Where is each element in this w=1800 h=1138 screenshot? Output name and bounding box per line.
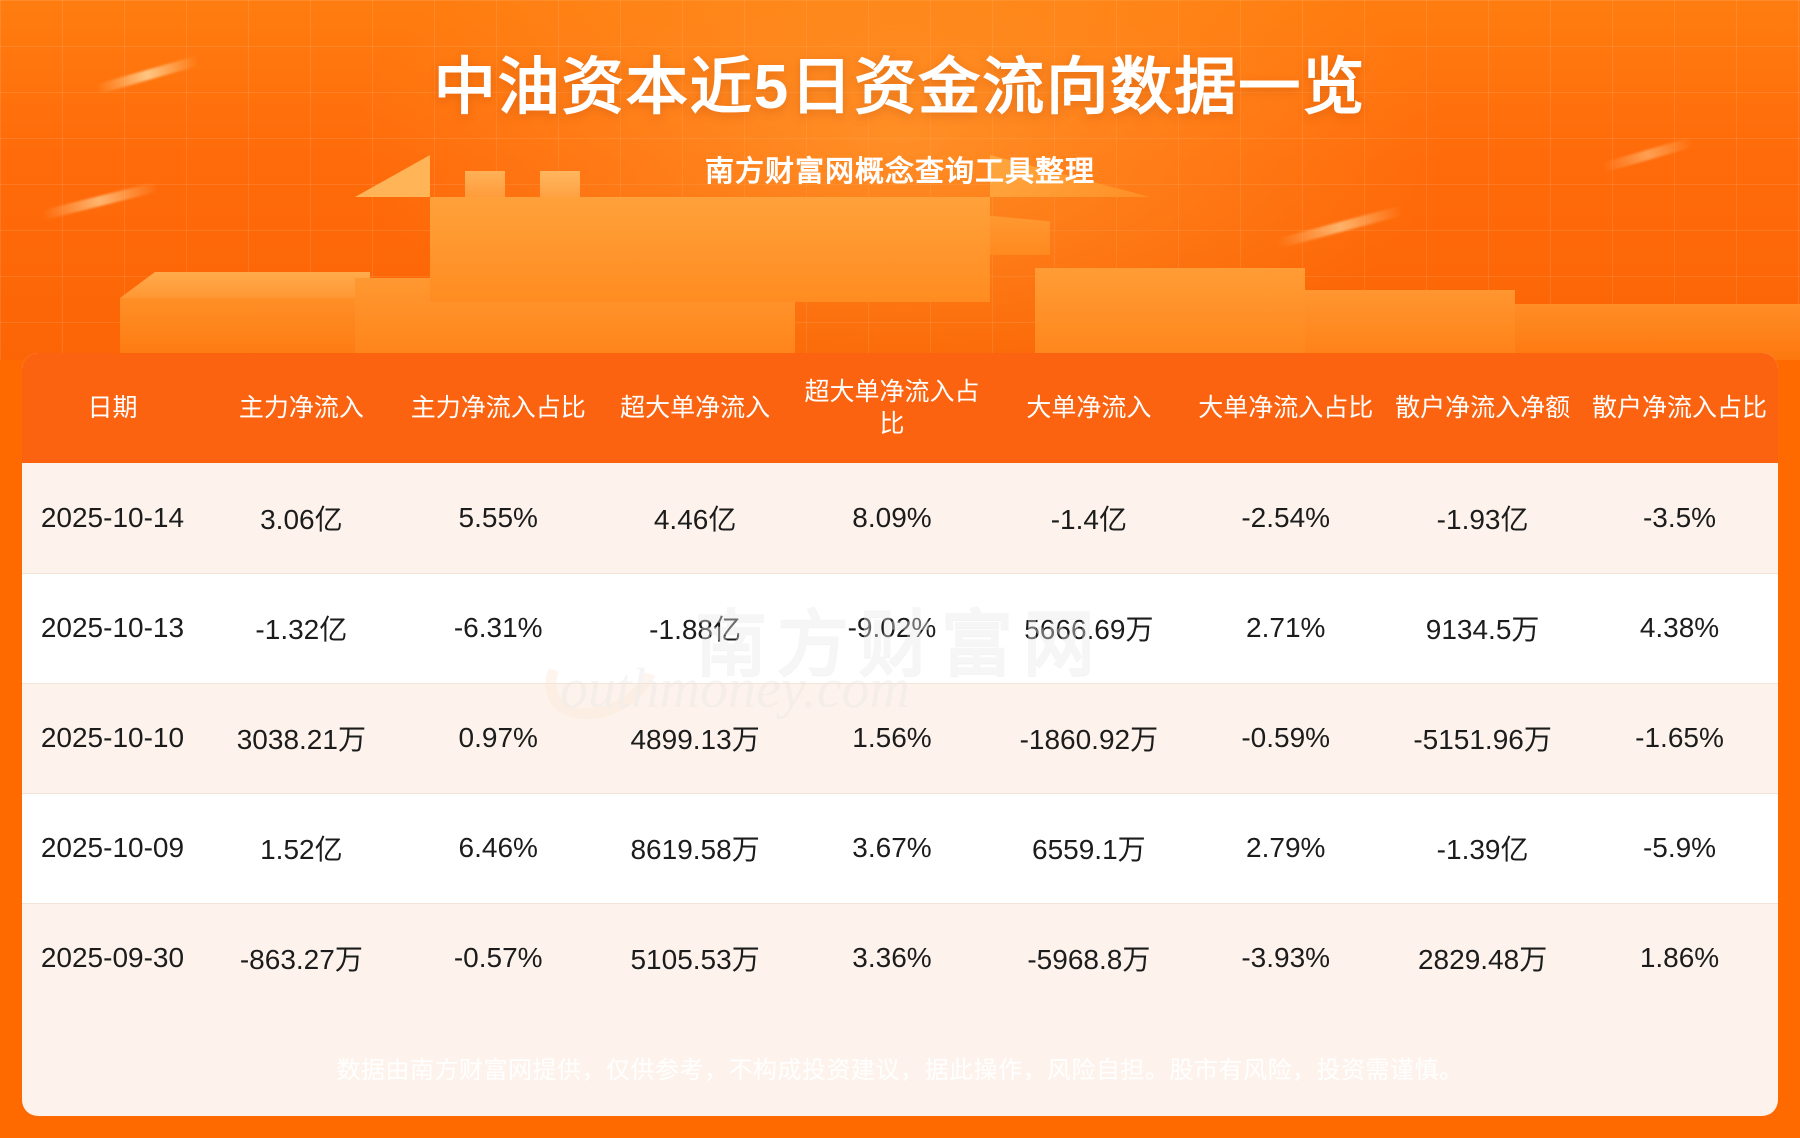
cell-lg-pct: -3.93%: [1187, 903, 1384, 1013]
cell-lg-pct: 2.79%: [1187, 793, 1384, 903]
cell-date: 2025-10-14: [22, 463, 203, 573]
cell-retail-pct: -1.65%: [1581, 683, 1778, 793]
podium-block: [1035, 268, 1305, 360]
podium-illustration: [0, 185, 1800, 360]
cell-xl-net: -1.88亿: [597, 573, 794, 683]
cell-xl-net: 5105.53万: [597, 903, 794, 1013]
cell-xl-net: 4.46亿: [597, 463, 794, 573]
podium-center-block: [430, 197, 990, 302]
cell-main-pct: 5.55%: [400, 463, 597, 573]
cell-lg-pct: -2.54%: [1187, 463, 1384, 573]
cell-main-pct: -6.31%: [400, 573, 597, 683]
data-table-card: 日期 主力净流入 主力净流入占比 超大单净流入 超大单净流入占比 大单净流入 大…: [22, 353, 1778, 1116]
cell-xl-pct: 3.67%: [794, 793, 991, 903]
cell-xl-pct: 1.56%: [794, 683, 991, 793]
cell-retail-pct: -5.9%: [1581, 793, 1778, 903]
column-header-main-pct[interactable]: 主力净流入占比: [400, 353, 597, 463]
cell-lg-net: 6559.1万: [990, 793, 1187, 903]
cell-main-net: 1.52亿: [203, 793, 400, 903]
podium-block: [1500, 304, 1800, 360]
cell-lg-net: 5666.69万: [990, 573, 1187, 683]
cell-main-net: -1.32亿: [203, 573, 400, 683]
page-title: 中油资本近5日资金流向数据一览: [0, 36, 1800, 126]
cell-retail-net: 2829.48万: [1384, 903, 1581, 1013]
podium-block: [1290, 290, 1515, 360]
cell-main-pct: 0.97%: [400, 683, 597, 793]
cell-date: 2025-10-13: [22, 573, 203, 683]
fund-flow-table: 日期 主力净流入 主力净流入占比 超大单净流入 超大单净流入占比 大单净流入 大…: [22, 353, 1778, 1013]
column-header-retail-net[interactable]: 散户净流入净额: [1384, 353, 1581, 463]
footer-disclaimer: 数据由南方财富网提供，仅供参考，不构成投资建议，据此操作，风险自担。股市有风险，…: [0, 1050, 1800, 1085]
cell-retail-net: -5151.96万: [1384, 683, 1581, 793]
cell-date: 2025-09-30: [22, 903, 203, 1013]
cell-retail-net: -1.39亿: [1384, 793, 1581, 903]
cell-retail-net: 9134.5万: [1384, 573, 1581, 683]
cell-main-net: 3038.21万: [203, 683, 400, 793]
cell-retail-pct: 4.38%: [1581, 573, 1778, 683]
cell-xl-pct: 3.36%: [794, 903, 991, 1013]
cell-date: 2025-10-10: [22, 683, 203, 793]
podium-block: [120, 298, 370, 360]
cell-main-net: 3.06亿: [203, 463, 400, 573]
column-header-main-net[interactable]: 主力净流入: [203, 353, 400, 463]
table-body: 2025-10-14 3.06亿 5.55% 4.46亿 8.09% -1.4亿…: [22, 463, 1778, 1013]
table-row: 2025-10-10 3038.21万 0.97% 4899.13万 1.56%…: [22, 683, 1778, 793]
column-header-lg-pct[interactable]: 大单净流入占比: [1187, 353, 1384, 463]
column-header-retail-pct[interactable]: 散户净流入占比: [1581, 353, 1778, 463]
cell-lg-net: -5968.8万: [990, 903, 1187, 1013]
table-row: 2025-10-13 -1.32亿 -6.31% -1.88亿 -9.02% 5…: [22, 573, 1778, 683]
cell-xl-pct: -9.02%: [794, 573, 991, 683]
column-header-xl-pct[interactable]: 超大单净流入占比: [794, 353, 991, 463]
cell-retail-pct: -3.5%: [1581, 463, 1778, 573]
cell-main-pct: -0.57%: [400, 903, 597, 1013]
table-header-row: 日期 主力净流入 主力净流入占比 超大单净流入 超大单净流入占比 大单净流入 大…: [22, 353, 1778, 463]
column-header-xl-net[interactable]: 超大单净流入: [597, 353, 794, 463]
cell-lg-net: -1.4亿: [990, 463, 1187, 573]
table-row: 2025-10-14 3.06亿 5.55% 4.46亿 8.09% -1.4亿…: [22, 463, 1778, 573]
cell-date: 2025-10-09: [22, 793, 203, 903]
cell-lg-pct: 2.71%: [1187, 573, 1384, 683]
table-header: 日期 主力净流入 主力净流入占比 超大单净流入 超大单净流入占比 大单净流入 大…: [22, 353, 1778, 463]
cell-main-net: -863.27万: [203, 903, 400, 1013]
column-header-date[interactable]: 日期: [22, 353, 203, 463]
cell-xl-net: 8619.58万: [597, 793, 794, 903]
cell-retail-net: -1.93亿: [1384, 463, 1581, 573]
podium-block-top: [120, 272, 370, 298]
cell-main-pct: 6.46%: [400, 793, 597, 903]
cell-xl-net: 4899.13万: [597, 683, 794, 793]
cell-lg-net: -1860.92万: [990, 683, 1187, 793]
page-subtitle: 南方财富网概念查询工具整理: [0, 148, 1800, 190]
cell-xl-pct: 8.09%: [794, 463, 991, 573]
table-row: 2025-09-30 -863.27万 -0.57% 5105.53万 3.36…: [22, 903, 1778, 1013]
cell-lg-pct: -0.59%: [1187, 683, 1384, 793]
table-row: 2025-10-09 1.52亿 6.46% 8619.58万 3.67% 65…: [22, 793, 1778, 903]
column-header-lg-net[interactable]: 大单净流入: [990, 353, 1187, 463]
cell-retail-pct: 1.86%: [1581, 903, 1778, 1013]
